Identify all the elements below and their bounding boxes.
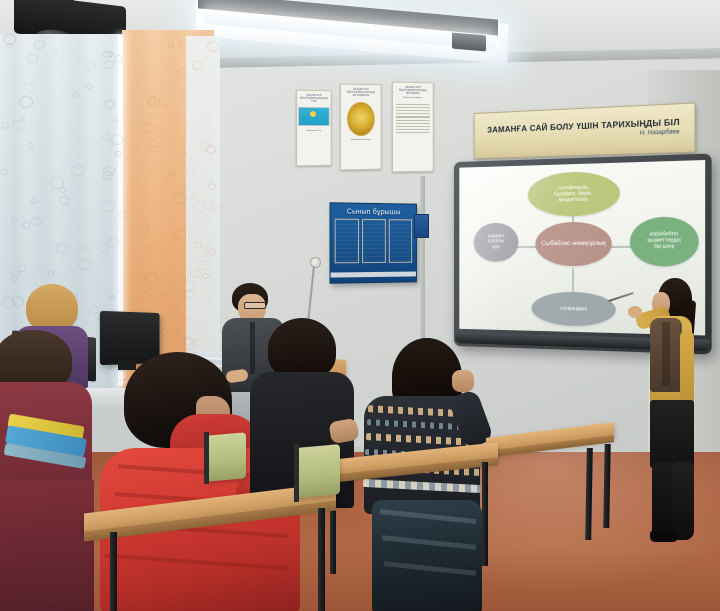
curtain-dot <box>118 211 127 219</box>
striped-person-hand <box>452 370 474 392</box>
desk-front-leg-2 <box>318 508 325 611</box>
curtain-dot <box>12 120 25 131</box>
curtain-dot <box>104 100 115 110</box>
curtain-dot <box>21 116 27 121</box>
chair-frame-left <box>204 432 209 484</box>
chair-back-left[interactable] <box>206 432 246 481</box>
class-corner-pockets <box>331 219 416 264</box>
kazakhstan-flag-icon <box>298 107 330 126</box>
curtain-dot <box>72 92 79 98</box>
curtain-dot <box>27 54 38 64</box>
curtain-dot <box>181 186 187 191</box>
curtain-dot <box>171 234 177 239</box>
monitor-stand <box>118 360 136 370</box>
computer-monitor[interactable] <box>100 311 160 365</box>
presenter-sleeve <box>680 330 694 406</box>
classroom-photo: ҚАЗАҚСТАН РЕСПУБЛИКАСЫНЫҢ ТУЫ Мемлекетті… <box>0 0 720 611</box>
power-socket-icon <box>310 257 321 268</box>
class-corner-board: Сынып бұрышы <box>330 202 417 283</box>
curtain-dot <box>59 196 70 205</box>
diagram-node-center[interactable]: Сыбайлас-жемқорлық <box>535 222 611 267</box>
curtain-dot <box>192 61 203 70</box>
diagram-node-left[interactable]: пәрменсапалықор <box>474 223 519 262</box>
poster-flag-body: Мемлекеттік Ту <box>297 129 331 134</box>
curtain-dot <box>107 237 119 247</box>
curtain-dot <box>150 267 158 274</box>
presenter-boot-sole <box>650 530 678 542</box>
curtain-dot <box>150 98 156 103</box>
poster-kazakhstan-emblem: ҚАЗАҚСТАН РЕСПУБЛИКАСЫНЫҢ ЕЛТАҢБАСЫ Мемл… <box>340 84 382 171</box>
curtain-dot <box>31 198 37 203</box>
curtain-dot <box>186 166 195 174</box>
class-corner-pocket <box>389 219 412 263</box>
fluorescent-lamp-endcap <box>452 33 486 52</box>
curtain-dot <box>59 187 66 193</box>
diagram-node-bottom[interactable]: сатқындық <box>532 291 616 327</box>
curtain-dot <box>141 223 148 229</box>
curtain-dot <box>31 217 41 225</box>
presenter-boot-right <box>672 462 694 540</box>
curtain-dot <box>107 51 114 57</box>
curtain-dot <box>198 260 210 270</box>
poster-anthem-title: ҚАЗАҚСТАН РЕСПУБЛИКАСЫНЫҢ ӘНҰРАНЫ <box>393 83 433 97</box>
curtain-dot <box>56 243 68 253</box>
presenter-black-skirt <box>650 400 694 468</box>
chair-back-center[interactable] <box>296 444 340 498</box>
curtain-dot <box>210 203 218 210</box>
curtain-dot <box>145 169 151 175</box>
curtain-dot <box>176 326 183 332</box>
curtain-dot <box>179 40 184 45</box>
curtain-dot <box>34 40 44 49</box>
diagram-node-top-label: сыпайгерлік,бұлдірге, берік,міндеттілер <box>554 184 593 204</box>
poster-kazakhstan-anthem: ҚАЗАҚСТАН РЕСПУБЛИКАСЫНЫҢ ӘНҰРАНЫ Мемлек… <box>392 82 434 173</box>
teacher-glasses-icon <box>244 302 266 309</box>
class-corner-title: Сынып бұрышы <box>331 203 416 219</box>
curtain-dot <box>79 259 93 271</box>
poster-kazakhstan-flag: ҚАЗАҚСТАН РЕСПУБЛИКАСЫНЫҢ ТУЫ Мемлекетті… <box>296 90 332 167</box>
curtain-dot <box>113 118 118 123</box>
curtain-dot <box>146 295 156 304</box>
diagram-node-bottom-label: сатқындық <box>560 306 587 313</box>
curtain-dot <box>174 193 187 204</box>
poster-flag-title: ҚАЗАҚСТАН РЕСПУБЛИКАСЫНЫҢ ТУЫ <box>297 91 331 105</box>
class-corner-pocket <box>335 219 359 264</box>
curtain-dot <box>98 244 108 253</box>
curtain-dot <box>194 242 202 249</box>
curtain-dot <box>103 60 114 69</box>
class-corner-strip <box>331 272 416 278</box>
curtain-dot <box>80 246 86 251</box>
curtain-dot <box>11 276 18 282</box>
curtain-dot <box>102 134 110 141</box>
curtain-dot <box>202 273 209 279</box>
curtain-dot <box>190 194 195 199</box>
curtain-dot <box>85 83 92 90</box>
desk-front-leg-1 <box>110 532 117 611</box>
curtain-dot <box>161 338 167 344</box>
curtain-dot <box>114 55 123 63</box>
blonde-hair <box>26 284 78 332</box>
curtain-dot <box>176 68 187 78</box>
slogan-banner: ЗАМАНҒА САЙ БОЛУ ҮШІН ТАРИХЫҢДЫ БІЛ Н. Н… <box>474 102 696 159</box>
curtain-dot <box>207 41 219 51</box>
curtain-dot <box>71 165 85 177</box>
presenter-boot-left <box>652 462 674 538</box>
curtain-dot <box>139 282 151 292</box>
kazakhstan-emblem-icon <box>347 102 375 136</box>
curtain-dot <box>11 217 16 222</box>
curtain-dot <box>7 43 13 48</box>
curtain-dot <box>51 50 57 56</box>
curtain-dot <box>84 60 95 70</box>
curtain-dot <box>102 171 113 180</box>
poster-emblem-title: ҚАЗАҚСТАН РЕСПУБЛИКАСЫНЫҢ ЕЛТАҢБАСЫ <box>341 85 381 99</box>
curtain-dot <box>148 145 156 152</box>
curtain-dot <box>181 338 195 350</box>
curtain-dot <box>102 201 115 212</box>
curtain-dot <box>24 83 34 92</box>
curtain-dot <box>12 296 24 306</box>
curtain-dot <box>179 152 192 163</box>
diagram-node-top[interactable]: сыпайгерлік,бұлдірге, берік,міндеттілер <box>528 171 620 217</box>
diagram-node-center-label: Сыбайлас-жемқорлық <box>541 240 606 247</box>
class-corner-pocket <box>362 219 386 263</box>
curtain-dot <box>184 289 195 298</box>
diagram-node-right[interactable]: көрінбейтінқызметтердіңбір шеңі <box>630 216 699 266</box>
presenter-hand <box>628 306 642 318</box>
curtain-dot <box>106 372 111 377</box>
curtain-dot <box>70 226 79 234</box>
curtain-dot <box>115 151 122 157</box>
presenter-vest-seam <box>662 322 670 386</box>
curtain-dot <box>190 269 201 278</box>
diagram-node-left-label: пәрменсапалықор <box>488 234 504 250</box>
curtain-dot <box>168 42 174 47</box>
curtain-dot <box>22 222 30 229</box>
curtain-dot <box>19 96 32 107</box>
curtain-dot <box>167 307 181 319</box>
teacher-jacket-seam <box>250 322 255 374</box>
diagram-node-right-label: көрінбейтінқызметтердіңбір шеңі <box>647 233 680 251</box>
curtain-dot <box>163 104 169 109</box>
curtain-dot <box>147 113 153 118</box>
burgundy-jacket-lower <box>0 480 94 611</box>
curtain-dot <box>12 270 19 276</box>
curtain-dot <box>168 331 178 340</box>
curtain-dot <box>193 202 206 213</box>
curtain-dot <box>110 295 115 300</box>
desk-mid-leg-2 <box>482 462 488 566</box>
curtain-dot <box>143 123 155 133</box>
curtain-dot <box>160 129 168 136</box>
poster-emblem-body: Мемлекеттік Елтаңба <box>341 138 381 143</box>
curtain-dot <box>161 197 167 203</box>
curtain-dot <box>1 169 8 175</box>
small-wall-sign <box>414 214 429 238</box>
curtain-dot <box>114 370 127 381</box>
curtain-dot <box>159 293 166 299</box>
curtain-dot <box>182 317 194 327</box>
curtain-dot <box>48 270 54 275</box>
dark-person-hair <box>268 318 336 380</box>
curtain-dot <box>1 122 9 129</box>
curtain-dot <box>27 143 33 149</box>
curtain-dot <box>188 230 195 236</box>
curtain-dot <box>147 246 152 251</box>
chair-frame-center <box>294 444 299 502</box>
curtain-dot <box>111 134 124 145</box>
